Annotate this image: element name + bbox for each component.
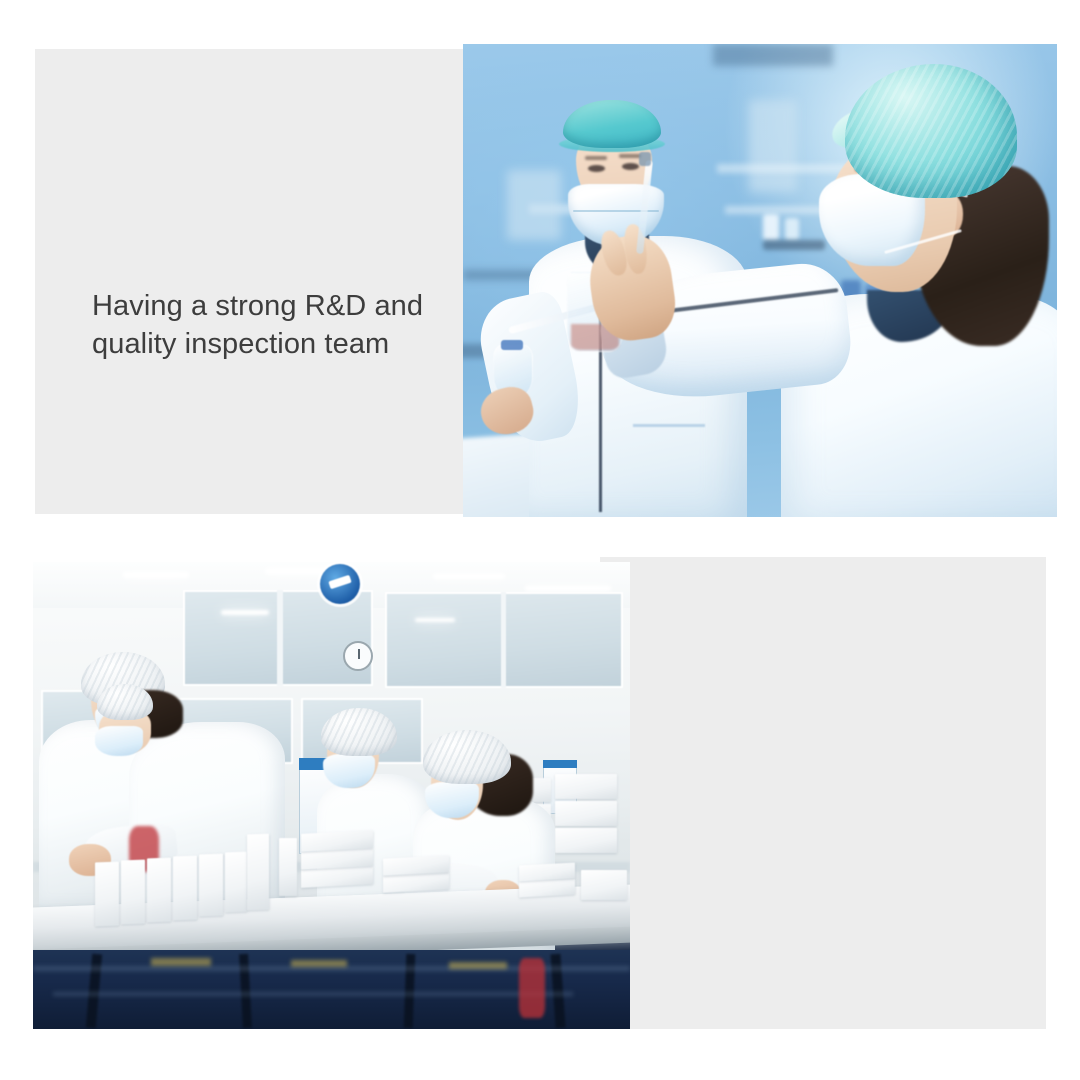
company-wall-logo-icon [320,564,360,604]
table-carton [95,862,119,927]
section-warehouse: a warehouse distribution area a warehous… [0,540,1080,1080]
ceiling-light-4 [525,586,611,591]
table-carton [173,856,197,921]
lab-worker-left-brow-right [619,154,641,158]
packing-worker-2-mask [95,726,143,756]
lab-ceiling-beam [713,44,833,66]
carton-stack-item [555,801,617,826]
lab-cabinet-1 [749,100,797,192]
lab-worker-left-brow-left [585,156,607,160]
window-mullion-1 [277,590,283,686]
floor-reflection-2 [53,992,573,996]
table-carton [199,854,223,917]
table-flat-carton [301,848,373,870]
rnd-caption: Having a strong R&D and quality inspecti… [92,287,492,363]
ceiling-light-3 [433,574,505,579]
wall-notice-header-2 [543,760,577,768]
section-rnd: Having a strong R&D and quality inspecti… [0,0,1080,540]
warehouse-text-panel: a warehouse distribution area a warehous… [600,557,1046,1029]
floor-marking-2 [291,960,347,967]
lab-worker-left-eye-right [622,163,639,170]
window-mullion-2 [501,592,506,688]
lab-flask-cap-left [501,340,523,350]
table-flat-carton [519,879,575,898]
table-flat-carton [519,863,575,882]
lab-test-tube-tip [639,152,651,166]
lab-worker-left-pocket [633,424,705,427]
lab-bottle-1 [763,214,779,240]
interior-light-1 [221,610,269,615]
wall-clock-icon [343,641,373,671]
table-bottle-tall [247,834,269,911]
table-flat-carton [383,872,449,892]
floor-marking-3 [449,962,507,969]
carton-stack-item [555,774,617,799]
lab-rail [763,240,825,250]
table-carton [225,852,247,913]
lab-bottle-2 [785,218,799,240]
table-carton [147,858,171,923]
rnd-photo-lab-inspection [463,44,1057,517]
packing-worker-3-hairnet [321,708,397,756]
floor-marking-1 [151,958,211,966]
warehouse-photo-packing-area [33,562,630,1029]
packing-worker-2-hairnet [97,684,153,720]
lab-cabinet-3 [507,170,561,240]
ceiling-light-1 [123,572,189,578]
hairnet-mesh-texture [321,708,397,756]
table-flat-carton [383,855,449,875]
interior-light-2 [415,618,455,622]
table-flat-carton [301,830,373,852]
table-carton [121,860,145,925]
table-bottle [279,838,297,896]
floor-red-object [519,958,545,1018]
table-carton [581,870,627,900]
table-flat-carton [301,866,373,888]
carton-stack-item [555,828,617,853]
lab-worker-left-eye-left [588,165,605,172]
promo-banner: Having a strong R&D and quality inspecti… [0,0,1080,1080]
hairnet-mesh-texture [97,684,153,720]
